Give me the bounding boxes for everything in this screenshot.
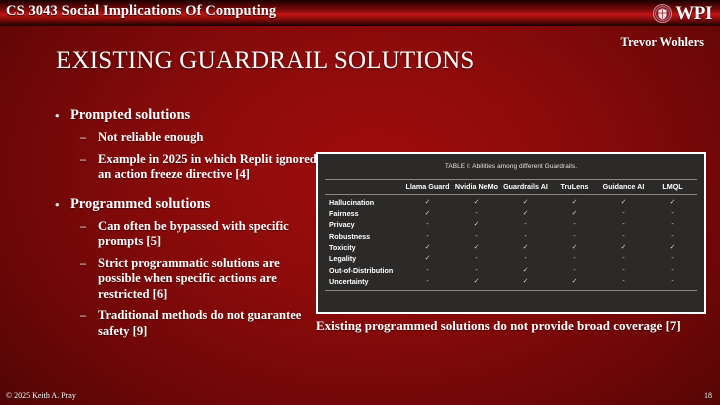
table-row-header: Legality xyxy=(325,253,403,264)
table-bottom-rule xyxy=(325,290,697,291)
list-item-label: Strict programmatic solutions are possib… xyxy=(98,256,280,301)
course-title: CS 3043 Social Implications Of Computing xyxy=(6,3,276,20)
slide-canvas: CS 3043 Social Implications Of Computing… xyxy=(0,0,720,405)
list-item-label: Can often be bypassed with specific prom… xyxy=(98,219,289,249)
table-cell: ✓ xyxy=(452,219,501,230)
dash-marker: – xyxy=(80,308,86,324)
table-row-header: Robustness xyxy=(325,230,403,241)
table-cell: - xyxy=(403,276,452,287)
table-cell: ✓ xyxy=(403,253,452,264)
dash-marker: – xyxy=(80,256,86,272)
table-row: Out-of-Distribution--✓--- xyxy=(325,265,697,276)
table-cell: ✓ xyxy=(403,195,452,208)
table-cell: ✓ xyxy=(501,208,550,219)
table-col-header: TruLens xyxy=(550,180,599,195)
table-row: Hallucination✓✓✓✓✓✓ xyxy=(325,195,697,208)
table-cell: - xyxy=(550,219,599,230)
table-cell: ✓ xyxy=(648,195,697,208)
table-cell: - xyxy=(599,208,648,219)
list-item: – Can often be bypassed with specific pr… xyxy=(52,219,324,250)
table-col-header-blank xyxy=(325,180,403,195)
list-item-label: Not reliable enough xyxy=(98,130,203,144)
wpi-seal-icon xyxy=(653,4,672,23)
table-cell: ✓ xyxy=(501,242,550,253)
list-item-label: Prompted solutions xyxy=(70,107,190,123)
table-caption: TABLE I: Abilities among different Guard… xyxy=(318,154,704,179)
table-row: Privacy-✓---- xyxy=(325,219,697,230)
table-cell: ✓ xyxy=(550,195,599,208)
table-cell: - xyxy=(599,276,648,287)
table-cell: ✓ xyxy=(550,242,599,253)
bullet-marker: • xyxy=(55,195,60,214)
table-col-header: LMQL xyxy=(648,180,697,195)
table-cell: - xyxy=(501,230,550,241)
table-cell: - xyxy=(648,265,697,276)
table-cell: - xyxy=(599,219,648,230)
table-cell: ✓ xyxy=(501,195,550,208)
table-row-header: Toxicity xyxy=(325,242,403,253)
table-cell: ✓ xyxy=(550,208,599,219)
table-cell: - xyxy=(599,230,648,241)
list-item-label: Example in 2025 in which Replit ignored … xyxy=(98,152,317,182)
table-row: Fairness✓-✓✓-- xyxy=(325,208,697,219)
figure-caption: Existing programmed solutions do not pro… xyxy=(316,318,712,334)
footer-copyright: © 2025 Keith A. Pray xyxy=(6,391,76,400)
table-cell: ✓ xyxy=(452,242,501,253)
page-title: EXISTING GUARDRAIL SOLUTIONS xyxy=(56,47,475,75)
list-item: • Programmed solutions xyxy=(52,195,324,214)
table-cell: ✓ xyxy=(501,276,550,287)
table-cell: ✓ xyxy=(550,276,599,287)
bullet-marker: • xyxy=(55,106,60,125)
table-row: Uncertainty-✓✓✓-- xyxy=(325,276,697,287)
list-item: – Not reliable enough xyxy=(52,130,324,146)
list-item: – Traditional methods do not guarantee s… xyxy=(52,308,324,339)
dash-marker: – xyxy=(80,130,86,146)
table-col-header: Nvidia NeMo xyxy=(452,180,501,195)
table-cell: ✓ xyxy=(599,242,648,253)
table-row-header: Out-of-Distribution xyxy=(325,265,403,276)
table-cell: - xyxy=(452,265,501,276)
table-row: Robustness------ xyxy=(325,230,697,241)
table-cell: - xyxy=(501,253,550,264)
table-row-header: Uncertainty xyxy=(325,276,403,287)
table-cell: - xyxy=(599,253,648,264)
table-cell: - xyxy=(648,208,697,219)
table-cell: - xyxy=(550,230,599,241)
wpi-logo: WPI xyxy=(653,1,712,25)
table-col-header: Llama Guard xyxy=(403,180,452,195)
table-row-header: Fairness xyxy=(325,208,403,219)
table-col-header: Guardrails AI xyxy=(501,180,550,195)
table-header-row: Llama Guard Nvidia NeMo Guardrails AI Tr… xyxy=(325,180,697,195)
table-cell: - xyxy=(648,253,697,264)
table-cell: - xyxy=(452,230,501,241)
table-cell: ✓ xyxy=(599,195,648,208)
table-cell: ✓ xyxy=(648,242,697,253)
presenter-name: Trevor Wohlers xyxy=(621,35,704,50)
list-item: – Example in 2025 in which Replit ignore… xyxy=(52,152,324,183)
slide-header-bar: CS 3043 Social Implications Of Computing… xyxy=(0,0,720,26)
table-cell: - xyxy=(550,265,599,276)
table-col-header: Guidance AI xyxy=(599,180,648,195)
table-cell: ✓ xyxy=(403,242,452,253)
table-cell: - xyxy=(648,219,697,230)
dash-marker: – xyxy=(80,152,86,168)
table-cell: - xyxy=(403,265,452,276)
guardrails-table-figure: TABLE I: Abilities among different Guard… xyxy=(316,152,706,314)
wpi-wordmark: WPI xyxy=(675,4,712,23)
table-cell: - xyxy=(403,219,452,230)
table-cell: ✓ xyxy=(501,265,550,276)
list-item: – Strict programmatic solutions are poss… xyxy=(52,256,324,303)
table-cell: - xyxy=(452,208,501,219)
table-row-header: Privacy xyxy=(325,219,403,230)
bullet-content: • Prompted solutions – Not reliable enou… xyxy=(52,106,324,345)
table-row: Toxicity✓✓✓✓✓✓ xyxy=(325,242,697,253)
table-body: Hallucination✓✓✓✓✓✓Fairness✓-✓✓--Privacy… xyxy=(325,195,697,288)
list-item: • Prompted solutions xyxy=(52,106,324,125)
table-cell: - xyxy=(648,276,697,287)
table-cell: ✓ xyxy=(452,195,501,208)
table-cell: - xyxy=(599,265,648,276)
table-row: Legality✓----- xyxy=(325,253,697,264)
table-cell: - xyxy=(648,230,697,241)
footer-page-number: 18 xyxy=(704,391,712,400)
table-row-header: Hallucination xyxy=(325,195,403,208)
table-cell: - xyxy=(501,219,550,230)
guardrails-table: Llama Guard Nvidia NeMo Guardrails AI Tr… xyxy=(325,179,697,287)
table-cell: ✓ xyxy=(403,208,452,219)
table-cell: ✓ xyxy=(452,276,501,287)
dash-marker: – xyxy=(80,219,86,235)
table-cell: - xyxy=(550,253,599,264)
table-cell: - xyxy=(452,253,501,264)
table-header: Llama Guard Nvidia NeMo Guardrails AI Tr… xyxy=(325,180,697,195)
list-item-label: Programmed solutions xyxy=(70,196,210,212)
table-cell: - xyxy=(403,230,452,241)
list-item-label: Traditional methods do not guarantee saf… xyxy=(98,308,301,338)
